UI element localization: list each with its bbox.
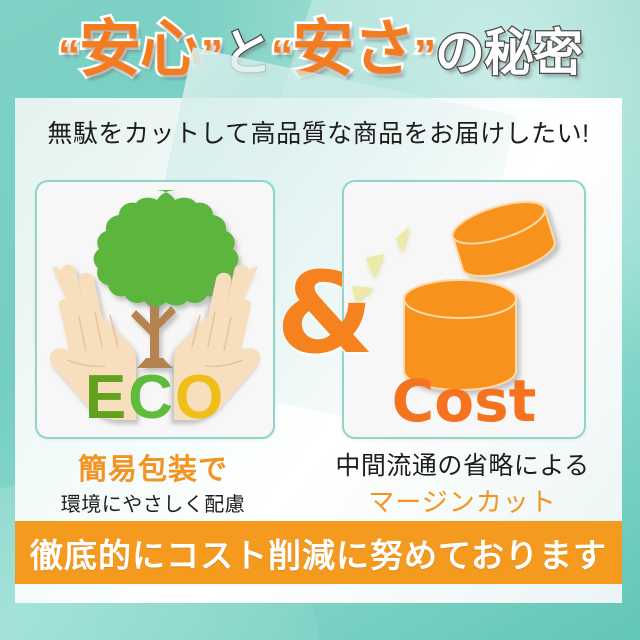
header-close-quote-1: ”: [201, 10, 222, 102]
promo-graphic: “安心”と“安さ”の秘密 無駄をカットして高品質な商品をお届けしたい!: [0, 0, 640, 640]
caption-right-line2: マージンカット: [325, 482, 600, 519]
caption-left-line2: 環境にやさしく配慮: [23, 488, 283, 517]
caption-right: 中間流通の省略による マージンカット: [325, 446, 600, 519]
header-title: “安心”と“安さ”の秘密: [0, 4, 640, 96]
eco-wordmark: ECO: [37, 362, 273, 433]
eco-letter-o: O: [175, 363, 225, 432]
header-open-quote-1: “: [58, 10, 79, 102]
header-connector: と: [222, 7, 271, 99]
ampersand-separator: &: [270, 258, 380, 370]
header-keyword-yasusa: 安さ: [292, 4, 414, 96]
cost-wordmark: Cost: [344, 367, 584, 435]
caption-left-line1: 簡易包装で: [23, 446, 283, 488]
content-panel: 無駄をカットして高品質な商品をお届けしたい!: [15, 98, 622, 603]
eco-letter-e: E: [85, 363, 128, 432]
footer-banner-text: 徹底的にコスト削減に努めております: [30, 529, 607, 577]
header-keyword-anshin: 安心: [79, 4, 201, 96]
footer-banner: 徹底的にコスト削減に努めております: [15, 521, 622, 584]
caption-left: 簡易包装で 環境にやさしく配慮: [23, 446, 283, 517]
eco-letter-c: C: [128, 363, 175, 432]
card-eco: ECO: [35, 180, 275, 439]
header-open-quote-2: “: [271, 10, 292, 102]
header-tail-himitsu: の秘密: [435, 7, 582, 99]
header-close-quote-2: ”: [414, 10, 435, 102]
caption-right-line1: 中間流通の省略による: [325, 446, 600, 482]
panel-subtitle: 無駄をカットして高品質な商品をお届けしたい!: [15, 114, 622, 150]
